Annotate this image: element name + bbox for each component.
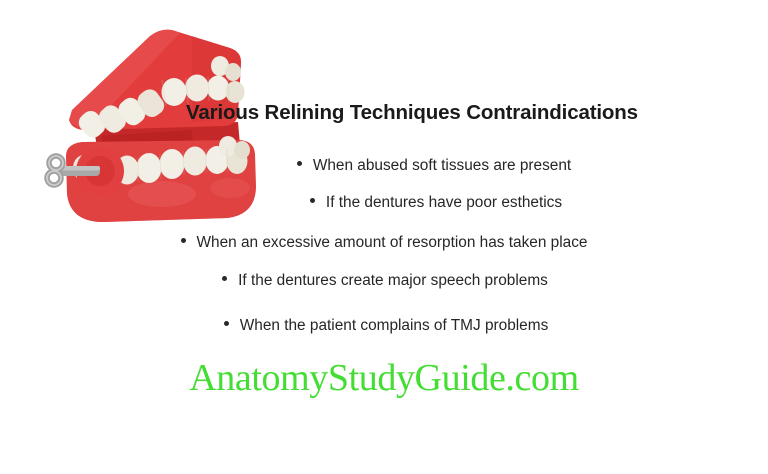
list-item: When the patient complains of TMJ proble… xyxy=(0,318,768,333)
list-item-label: When the patient complains of TMJ proble… xyxy=(240,318,549,333)
bullet-dot-icon xyxy=(222,276,227,281)
slide-canvas: Various Relining Techniques Contraindica… xyxy=(0,0,768,474)
bullet-dot-icon xyxy=(297,161,302,166)
list-item-label: If the dentures create major speech prob… xyxy=(238,273,548,288)
bullet-dot-icon xyxy=(181,238,186,243)
list-item-label: When an excessive amount of resorption h… xyxy=(197,235,588,250)
list-item: If the dentures create major speech prob… xyxy=(0,273,768,288)
list-item: If the dentures have poor esthetics xyxy=(0,195,768,210)
list-item: When abused soft tissues are present xyxy=(0,158,768,173)
list-item: When an excessive amount of resorption h… xyxy=(0,235,768,250)
list-item-label: If the dentures have poor esthetics xyxy=(326,195,562,210)
site-watermark: AnatomyStudyGuide.com xyxy=(0,358,768,400)
page-title: Various Relining Techniques Contraindica… xyxy=(186,101,726,126)
list-item-label: When abused soft tissues are present xyxy=(313,158,571,173)
bullet-dot-icon xyxy=(224,321,229,326)
contraindications-list: When abused soft tissues are present If … xyxy=(0,158,768,333)
bullet-dot-icon xyxy=(310,198,315,203)
